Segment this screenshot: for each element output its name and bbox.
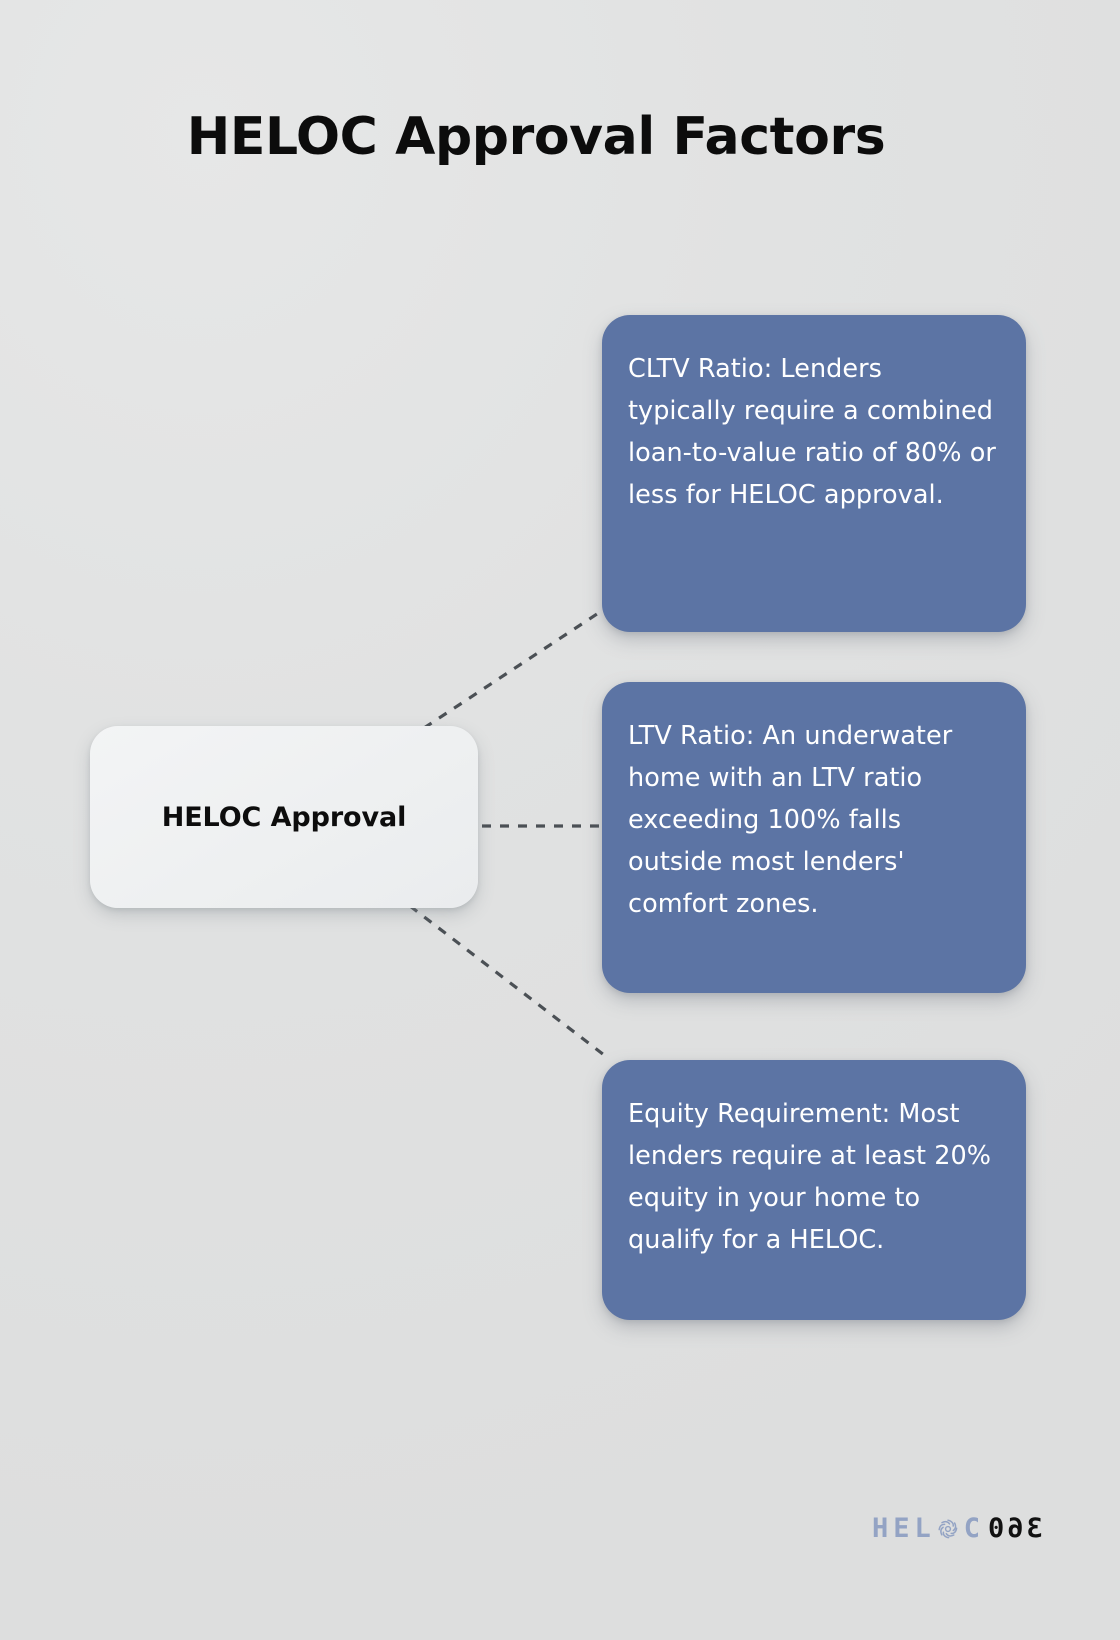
- logo-text-heloc-start: HEL: [872, 1515, 936, 1542]
- connector-to-equity: [410, 906, 608, 1058]
- infographic-canvas: HELOC Approval Factors HELOC Approval CL…: [0, 0, 1120, 1640]
- connector-to-cltv: [424, 612, 600, 728]
- factor-card-equity-text: Equity Requirement: Most lenders require…: [628, 1094, 996, 1262]
- factor-card-ltv-text: LTV Ratio: An underwater home with an LT…: [628, 716, 996, 926]
- center-node[interactable]: HELOC Approval: [90, 726, 478, 908]
- logo-text-heloc-end: C: [964, 1515, 985, 1542]
- factor-card-cltv-text: CLTV Ratio: Lenders typically require a …: [628, 349, 996, 517]
- spiral-icon: [936, 1517, 960, 1541]
- logo-text-360: 360: [985, 1515, 1043, 1542]
- brand-logo[interactable]: HEL C 360: [872, 1508, 1043, 1548]
- factor-card-equity[interactable]: Equity Requirement: Most lenders require…: [602, 1060, 1026, 1320]
- factor-card-ltv[interactable]: LTV Ratio: An underwater home with an LT…: [602, 682, 1026, 993]
- center-node-label: HELOC Approval: [162, 802, 407, 833]
- factor-card-cltv[interactable]: CLTV Ratio: Lenders typically require a …: [602, 315, 1026, 632]
